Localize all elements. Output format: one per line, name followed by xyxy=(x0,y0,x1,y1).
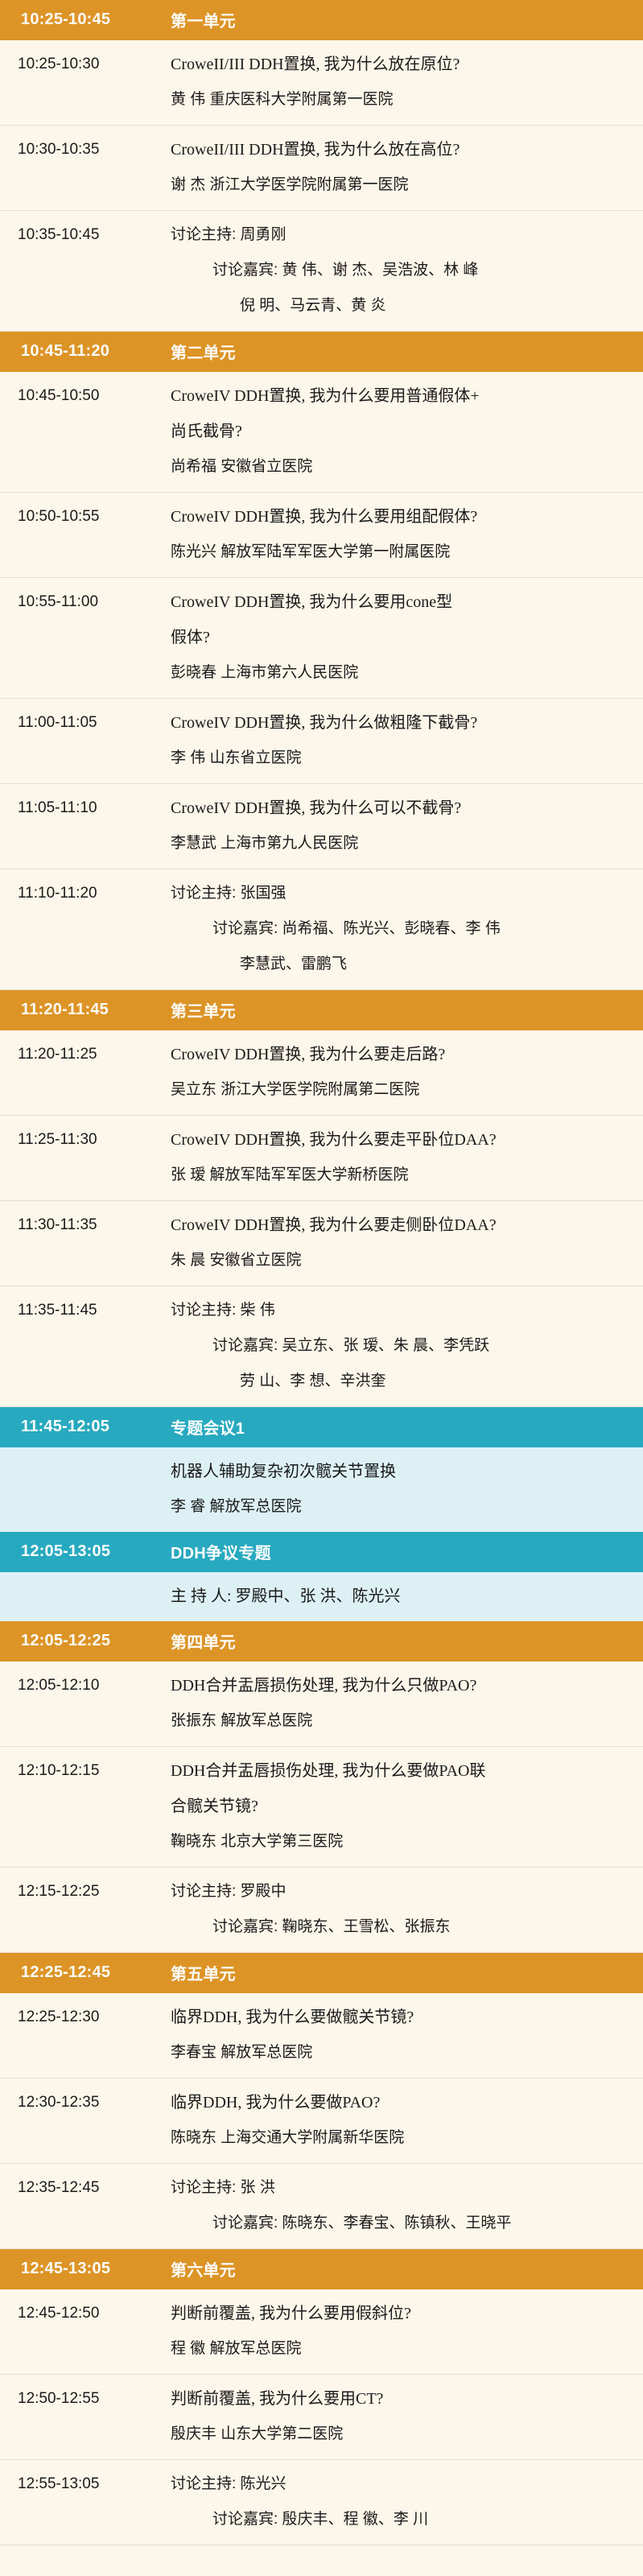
schedule-row-time: 11:10-11:20 xyxy=(0,880,171,907)
discussion-panel: 讨论嘉宾: 黄 伟、谢 杰、吴浩波、林 峰 xyxy=(171,257,629,284)
schedule-row-s-1120: 11:20-11:25CroweIV DDH置换, 我为什么要走后路?吴立东 浙… xyxy=(0,1030,643,1116)
schedule-row-time: 12:25-12:30 xyxy=(0,2004,171,2031)
schedule-row-body: 讨论主持: 周勇刚讨论嘉宾: 黄 伟、谢 杰、吴浩波、林 峰倪 明、马云青、黄 … xyxy=(171,221,643,320)
session-speaker: 张振东 解放军总医院 xyxy=(171,1707,629,1735)
session-speaker: 陈光兴 解放军陆军军医大学第一附属医院 xyxy=(171,539,629,566)
unit-header-special-1: 11:45-12:05专题会议1 xyxy=(0,1407,643,1447)
schedule-row-s-1215: 12:15-12:25讨论主持: 罗殿中讨论嘉宾: 鞠晓东、王雪松、张振东 xyxy=(0,1868,643,1953)
session-speaker: 程 徽 解放军总医院 xyxy=(171,2335,629,2363)
discussion-chair: 讨论主持: 周勇刚 xyxy=(171,221,629,249)
session-speaker: 尚希福 安徽省立医院 xyxy=(171,453,629,481)
session-topic: CroweIV DDH置换, 我为什么要走后路? xyxy=(171,1041,629,1068)
schedule-row-s-1235: 12:35-12:45讨论主持: 张 洪讨论嘉宾: 陈晓东、李春宝、陈镇秋、王晓… xyxy=(0,2164,643,2249)
session-speaker: 黄 伟 重庆医科大学附属第一医院 xyxy=(171,86,629,114)
schedule-row-time: 12:15-12:25 xyxy=(0,1878,171,1905)
unit-header-time: 11:45-12:05 xyxy=(0,1418,171,1436)
schedule-row-time: 11:35-11:45 xyxy=(0,1297,171,1324)
session-topic: CroweIV DDH置换, 我为什么要走侧卧位DAA? xyxy=(171,1212,629,1239)
schedule-row-body: CroweIV DDH置换, 我为什么可以不截骨?李慧武 上海市第九人民医院 xyxy=(171,795,643,857)
session-topic: CroweIV DDH置换, 我为什么做粗隆下截骨? xyxy=(171,709,629,737)
session-topic: 临界DDH, 我为什么要做髋关节镜? xyxy=(171,2004,629,2031)
unit-header-time: 12:05-12:25 xyxy=(0,1632,171,1650)
unit-header-time: 10:45-11:20 xyxy=(0,342,171,361)
schedule-row-body: DDH合并盂唇损伤处理, 我为什么只做PAO?张振东 解放军总医院 xyxy=(171,1672,643,1735)
schedule-row-s-1110: 11:10-11:20讨论主持: 张国强讨论嘉宾: 尚希福、陈光兴、彭晓春、李 … xyxy=(0,869,643,990)
session-topic: CroweIV DDH置换, 我为什么要用cone型 xyxy=(171,588,629,616)
schedule-row-body: 讨论主持: 陈光兴讨论嘉宾: 殷庆丰、程 徽、李 川 xyxy=(171,2471,643,2533)
schedule-row-s-1135: 11:35-11:45讨论主持: 柴 伟讨论嘉宾: 吴立东、张 瑷、朱 晨、李凭… xyxy=(0,1286,643,1407)
schedule-row-s-1030: 10:30-10:35CroweII/III DDH置换, 我为什么放在高位?谢… xyxy=(0,126,643,211)
schedule-row-body: 讨论主持: 张国强讨论嘉宾: 尚希福、陈光兴、彭晓春、李 伟李慧武、雷鹏飞 xyxy=(171,880,643,978)
schedule-row-time: 12:10-12:15 xyxy=(0,1757,171,1785)
discussion-panel: 讨论嘉宾: 尚希福、陈光兴、彭晓春、李 伟 xyxy=(171,915,629,943)
schedule-row-body: 判断前覆盖, 我为什么要用假斜位?程 徽 解放军总医院 xyxy=(171,2300,643,2363)
session-speaker: 李慧武 上海市第九人民医院 xyxy=(171,830,629,857)
session-speaker: 鞠晓东 北京大学第三医院 xyxy=(171,1828,629,1856)
schedule-row-s-1145: 机器人辅助复杂初次髋关节置换李 睿 解放军总医院 xyxy=(0,1447,643,1532)
unit-header-label: 专题会议1 xyxy=(171,1415,643,1439)
schedule-row-time: 11:30-11:35 xyxy=(0,1212,171,1239)
schedule-row-body: 主 持 人: 罗殿中、张 洪、陈光兴 xyxy=(171,1583,643,1610)
schedule-row-s-1105: 11:05-11:10CroweIV DDH置换, 我为什么可以不截骨?李慧武 … xyxy=(0,784,643,869)
schedule-row-s-1045: 10:45-10:50CroweIV DDH置换, 我为什么要用普通假体+尚氏截… xyxy=(0,372,643,493)
session-topic: 临界DDH, 我为什么要做PAO? xyxy=(171,2089,629,2116)
session-speaker: 李 睿 解放军总医院 xyxy=(171,1493,629,1521)
unit-header-unit-5: 12:25-12:45第五单元 xyxy=(0,1953,643,1993)
discussion-panel: 讨论嘉宾: 鞠晓东、王雪松、张振东 xyxy=(171,1913,629,1941)
session-topic: CroweIV DDH置换, 我为什么要用普通假体+ xyxy=(171,382,629,410)
unit-header-label: 第二单元 xyxy=(171,340,643,363)
schedule-row-s-1100: 11:00-11:05CroweIV DDH置换, 我为什么做粗隆下截骨?李 伟… xyxy=(0,699,643,784)
session-speaker: 李 伟 山东省立医院 xyxy=(171,745,629,772)
schedule-row-body: CroweIV DDH置换, 我为什么要走后路?吴立东 浙江大学医学院附属第二医… xyxy=(171,1041,643,1104)
schedule-row-time: 10:35-10:45 xyxy=(0,221,171,249)
discussion-chair: 讨论主持: 张国强 xyxy=(171,880,629,907)
unit-header-label: 第五单元 xyxy=(171,1961,643,1984)
schedule-row-time: 11:00-11:05 xyxy=(0,709,171,737)
session-speaker: 殷庆丰 山东大学第二医院 xyxy=(171,2421,629,2448)
schedule-row-s-1130: 11:30-11:35CroweIV DDH置换, 我为什么要走侧卧位DAA?朱… xyxy=(0,1201,643,1286)
session-topic: DDH合并盂唇损伤处理, 我为什么只做PAO? xyxy=(171,1672,629,1699)
schedule-row-s-1210: 12:10-12:15DDH合并盂唇损伤处理, 我为什么要做PAO联合髋关节镜?… xyxy=(0,1747,643,1868)
schedule-row-s-1255: 12:55-13:05讨论主持: 陈光兴讨论嘉宾: 殷庆丰、程 徽、李 川 xyxy=(0,2460,643,2545)
schedule-row-body: 临界DDH, 我为什么要做PAO?陈晓东 上海交通大学附属新华医院 xyxy=(171,2089,643,2152)
schedule-row-time: 12:45-12:50 xyxy=(0,2300,171,2327)
schedule-row-s-1245: 12:45-12:50判断前覆盖, 我为什么要用假斜位?程 徽 解放军总医院 xyxy=(0,2289,643,2375)
schedule-row-time: 12:35-12:45 xyxy=(0,2174,171,2202)
session-topic: 判断前覆盖, 我为什么要用假斜位? xyxy=(171,2300,629,2327)
agenda-schedule-table: 10:25-10:45第一单元10:25-10:30CroweII/III DD… xyxy=(0,0,643,2545)
schedule-row-s-1205-chair: 主 持 人: 罗殿中、张 洪、陈光兴 xyxy=(0,1572,643,1621)
schedule-row-time: 12:50-12:55 xyxy=(0,2385,171,2413)
schedule-row-time: 10:45-10:50 xyxy=(0,382,171,410)
schedule-row-body: CroweIV DDH置换, 我为什么要用普通假体+尚氏截骨?尚希福 安徽省立医… xyxy=(171,382,643,481)
discussion-chair: 讨论主持: 陈光兴 xyxy=(171,2471,629,2498)
schedule-row-body: 判断前覆盖, 我为什么要用CT?殷庆丰 山东大学第二医院 xyxy=(171,2385,643,2448)
discussion-chair: 讨论主持: 罗殿中 xyxy=(171,1878,629,1905)
session-speaker: 彭晓春 上海市第六人民医院 xyxy=(171,659,629,687)
session-topic-cont: 合髋关节镜? xyxy=(171,1793,629,1820)
unit-header-label: 第一单元 xyxy=(171,8,643,31)
schedule-row-s-1205: 12:05-12:10DDH合并盂唇损伤处理, 我为什么只做PAO?张振东 解放… xyxy=(0,1662,643,1747)
schedule-row-body: CroweII/III DDH置换, 我为什么放在原位?黄 伟 重庆医科大学附属… xyxy=(171,51,643,114)
schedule-row-body: 讨论主持: 罗殿中讨论嘉宾: 鞠晓东、王雪松、张振东 xyxy=(171,1878,643,1941)
schedule-row-body: CroweIV DDH置换, 我为什么要用组配假体?陈光兴 解放军陆军军医大学第… xyxy=(171,503,643,566)
schedule-row-s-1055: 10:55-11:00CroweIV DDH置换, 我为什么要用cone型假体?… xyxy=(0,578,643,699)
unit-header-unit-1: 10:25-10:45第一单元 xyxy=(0,0,643,40)
session-topic: 主 持 人: 罗殿中、张 洪、陈光兴 xyxy=(171,1583,629,1610)
schedule-row-body: 机器人辅助复杂初次髋关节置换李 睿 解放军总医院 xyxy=(171,1458,643,1521)
session-topic: CroweII/III DDH置换, 我为什么放在原位? xyxy=(171,51,629,78)
schedule-row-s-1225: 12:25-12:30临界DDH, 我为什么要做髋关节镜?李春宝 解放军总医院 xyxy=(0,1993,643,2079)
session-topic: CroweII/III DDH置换, 我为什么放在高位? xyxy=(171,136,629,163)
session-topic: 判断前覆盖, 我为什么要用CT? xyxy=(171,2385,629,2413)
session-speaker: 吴立东 浙江大学医学院附属第二医院 xyxy=(171,1076,629,1104)
session-topic-cont: 假体? xyxy=(171,624,629,651)
schedule-row-time: 11:20-11:25 xyxy=(0,1041,171,1068)
schedule-row-time: 12:30-12:35 xyxy=(0,2089,171,2116)
unit-header-time: 12:25-12:45 xyxy=(0,1963,171,1982)
unit-header-label: 第六单元 xyxy=(171,2257,643,2281)
schedule-row-body: 临界DDH, 我为什么要做髋关节镜?李春宝 解放军总医院 xyxy=(171,2004,643,2066)
schedule-row-time: 10:30-10:35 xyxy=(0,136,171,163)
unit-header-ddh-topic: 12:05-13:05DDH争议专题 xyxy=(0,1532,643,1572)
unit-header-unit-6: 12:45-13:05第六单元 xyxy=(0,2249,643,2289)
schedule-row-s-1050: 10:50-10:55CroweIV DDH置换, 我为什么要用组配假体?陈光兴… xyxy=(0,493,643,578)
schedule-row-time: 10:55-11:00 xyxy=(0,588,171,616)
schedule-row-time: 11:25-11:30 xyxy=(0,1126,171,1154)
unit-header-time: 12:45-13:05 xyxy=(0,2260,171,2278)
discussion-panel-cont: 李慧武、雷鹏飞 xyxy=(171,951,629,978)
session-topic: CroweIV DDH置换, 我为什么要走平卧位DAA? xyxy=(171,1126,629,1154)
schedule-row-body: CroweIV DDH置换, 我为什么要用cone型假体?彭晓春 上海市第六人民… xyxy=(171,588,643,687)
unit-header-label: DDH争议专题 xyxy=(171,1540,643,1563)
schedule-row-body: 讨论主持: 张 洪讨论嘉宾: 陈晓东、李春宝、陈镇秋、王晓平 xyxy=(171,2174,643,2237)
schedule-row-time: 12:05-12:10 xyxy=(0,1672,171,1699)
schedule-row-body: CroweII/III DDH置换, 我为什么放在高位?谢 杰 浙江大学医学院附… xyxy=(171,136,643,199)
schedule-row-body: 讨论主持: 柴 伟讨论嘉宾: 吴立东、张 瑷、朱 晨、李凭跃劳 山、李 想、辛洪… xyxy=(171,1297,643,1395)
schedule-row-s-1230: 12:30-12:35临界DDH, 我为什么要做PAO?陈晓东 上海交通大学附属… xyxy=(0,2079,643,2164)
session-topic: CroweIV DDH置换, 我为什么可以不截骨? xyxy=(171,795,629,822)
schedule-row-time: 12:55-13:05 xyxy=(0,2471,171,2498)
discussion-chair: 讨论主持: 柴 伟 xyxy=(171,1297,629,1324)
discussion-panel-cont: 劳 山、李 想、辛洪奎 xyxy=(171,1368,629,1395)
unit-header-time: 10:25-10:45 xyxy=(0,10,171,29)
session-topic: DDH合并盂唇损伤处理, 我为什么要做PAO联 xyxy=(171,1757,629,1785)
discussion-panel: 讨论嘉宾: 吴立东、张 瑷、朱 晨、李凭跃 xyxy=(171,1332,629,1360)
discussion-panel: 讨论嘉宾: 陈晓东、李春宝、陈镇秋、王晓平 xyxy=(171,2210,629,2237)
discussion-chair: 讨论主持: 张 洪 xyxy=(171,2174,629,2202)
session-speaker: 朱 晨 安徽省立医院 xyxy=(171,1247,629,1274)
unit-header-unit-2: 10:45-11:20第二单元 xyxy=(0,332,643,372)
schedule-row-s-1025: 10:25-10:30CroweII/III DDH置换, 我为什么放在原位?黄… xyxy=(0,40,643,126)
session-speaker: 李春宝 解放军总医院 xyxy=(171,2039,629,2066)
session-speaker: 陈晓东 上海交通大学附属新华医院 xyxy=(171,2124,629,2152)
unit-header-time: 11:20-11:45 xyxy=(0,1001,171,1019)
unit-header-time: 12:05-13:05 xyxy=(0,1542,171,1561)
session-topic: CroweIV DDH置换, 我为什么要用组配假体? xyxy=(171,503,629,530)
unit-header-unit-4: 12:05-12:25第四单元 xyxy=(0,1621,643,1662)
discussion-panel-cont: 倪 明、马云青、黄 炎 xyxy=(171,292,629,320)
session-speaker: 张 瑷 解放军陆军军医大学新桥医院 xyxy=(171,1162,629,1189)
schedule-row-body: CroweIV DDH置换, 我为什么做粗隆下截骨?李 伟 山东省立医院 xyxy=(171,709,643,772)
session-speaker: 谢 杰 浙江大学医学院附属第一医院 xyxy=(171,171,629,199)
schedule-row-time: 10:25-10:30 xyxy=(0,51,171,78)
schedule-row-time: 11:05-11:10 xyxy=(0,795,171,822)
schedule-row-s-1250: 12:50-12:55判断前覆盖, 我为什么要用CT?殷庆丰 山东大学第二医院 xyxy=(0,2375,643,2460)
unit-header-label: 第四单元 xyxy=(171,1629,643,1653)
discussion-panel: 讨论嘉宾: 殷庆丰、程 徽、李 川 xyxy=(171,2506,629,2533)
unit-header-unit-3: 11:20-11:45第三单元 xyxy=(0,990,643,1030)
schedule-row-body: CroweIV DDH置换, 我为什么要走侧卧位DAA?朱 晨 安徽省立医院 xyxy=(171,1212,643,1274)
schedule-row-body: CroweIV DDH置换, 我为什么要走平卧位DAA?张 瑷 解放军陆军军医大… xyxy=(171,1126,643,1189)
schedule-row-s-1035: 10:35-10:45讨论主持: 周勇刚讨论嘉宾: 黄 伟、谢 杰、吴浩波、林 … xyxy=(0,211,643,332)
session-topic-cont: 尚氏截骨? xyxy=(171,418,629,445)
unit-header-label: 第三单元 xyxy=(171,998,643,1022)
schedule-row-body: DDH合并盂唇损伤处理, 我为什么要做PAO联合髋关节镜?鞠晓东 北京大学第三医… xyxy=(171,1757,643,1856)
schedule-row-s-1125: 11:25-11:30CroweIV DDH置换, 我为什么要走平卧位DAA?张… xyxy=(0,1116,643,1201)
session-topic: 机器人辅助复杂初次髋关节置换 xyxy=(171,1458,629,1485)
schedule-row-time: 10:50-10:55 xyxy=(0,503,171,530)
